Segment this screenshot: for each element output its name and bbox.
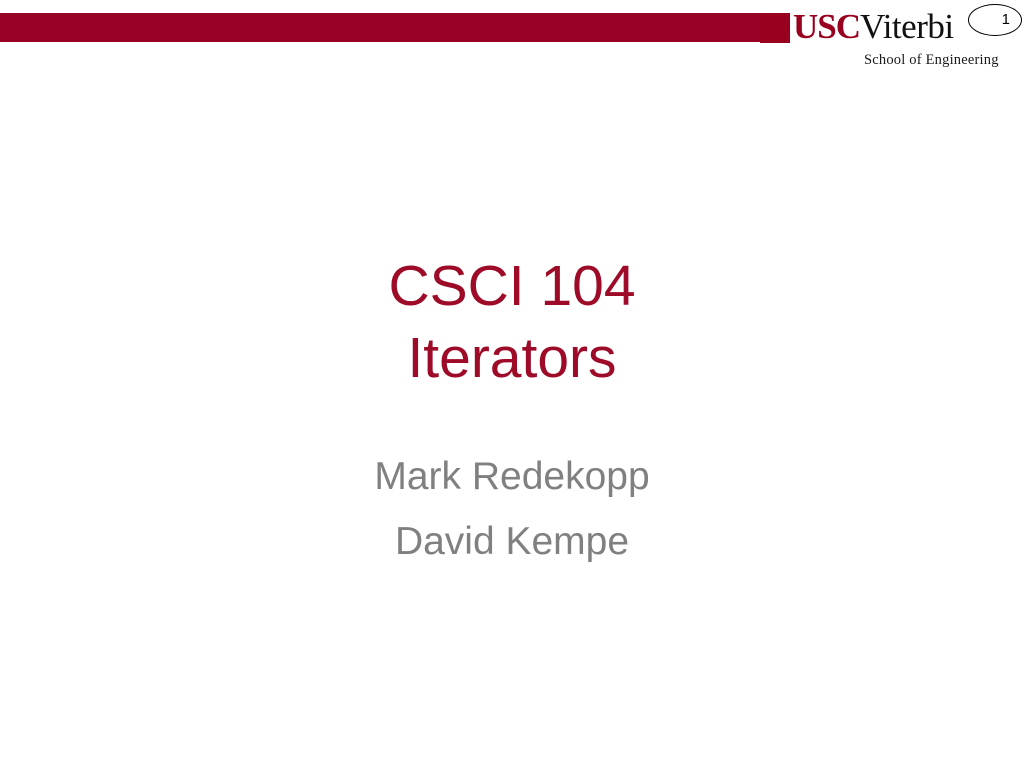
logo-wordmark: USCViterbi: [793, 6, 954, 48]
author-name-1: Mark Redekopp: [0, 444, 1024, 509]
author-name-2: David Kempe: [0, 509, 1024, 574]
usc-square-icon: [760, 13, 790, 43]
usc-viterbi-logo: USCViterbi School of Engineering: [760, 10, 990, 68]
logo-viterbi-text: Viterbi: [860, 7, 954, 46]
logo-tagline: School of Engineering: [864, 52, 999, 69]
logo-usc-text: USC: [793, 7, 860, 46]
slide-title: CSCI 104 Iterators: [0, 250, 1024, 394]
slide-title-line-2: Iterators: [0, 322, 1024, 394]
header-accent-bar: [0, 13, 778, 42]
slide-title-line-1: CSCI 104: [0, 250, 1024, 322]
page-number-badge: 1: [968, 4, 1022, 36]
slide-canvas: USCViterbi School of Engineering 1 CSCI …: [0, 0, 1024, 768]
slide-authors: Mark Redekopp David Kempe: [0, 444, 1024, 574]
page-number-text: 1: [1002, 5, 1010, 35]
